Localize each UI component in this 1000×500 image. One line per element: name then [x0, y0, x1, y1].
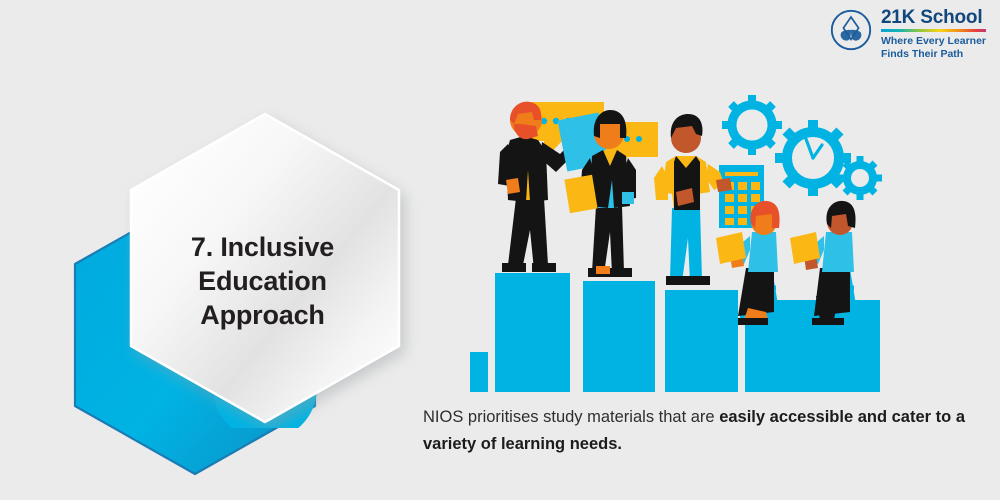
pedestal-3 [665, 290, 738, 392]
slide-canvas: 21K School Where Every Learner Finds The… [0, 0, 1000, 500]
pedestal-2 [583, 281, 655, 392]
gear-top-left-icon [722, 95, 782, 155]
brand-logo: 21K School Where Every Learner Finds The… [830, 8, 986, 62]
brand-tagline-line2: Finds Their Path [881, 48, 986, 61]
brand-tagline: Where Every Learner Finds Their Path [881, 35, 986, 62]
badge-title: 7. Inclusive Education Approach [125, 230, 400, 332]
caption-normal: NIOS prioritises study materials that ar… [423, 408, 719, 426]
caption-text: NIOS prioritises study materials that ar… [423, 404, 973, 457]
brand-gradient-rule [881, 29, 986, 32]
lotus-circle-logo-icon [830, 9, 872, 51]
inclusive-education-illustration [470, 80, 900, 405]
brand-title: 21K School [881, 8, 986, 27]
brand-text-block: 21K School Where Every Learner Finds The… [881, 8, 986, 62]
badge-title-line3: Approach [125, 298, 400, 332]
gear-clock-center-icon [775, 120, 851, 196]
badge-title-line2: Education [125, 264, 400, 298]
floor-box-left [470, 352, 488, 392]
badge-title-line1: 7. Inclusive [125, 230, 400, 264]
pedestal-1 [495, 273, 570, 392]
brand-tagline-line1: Where Every Learner [881, 35, 986, 48]
clock-hands-icon [806, 139, 822, 158]
hexagon-badge: 7. Inclusive Education Approach [30, 80, 430, 420]
